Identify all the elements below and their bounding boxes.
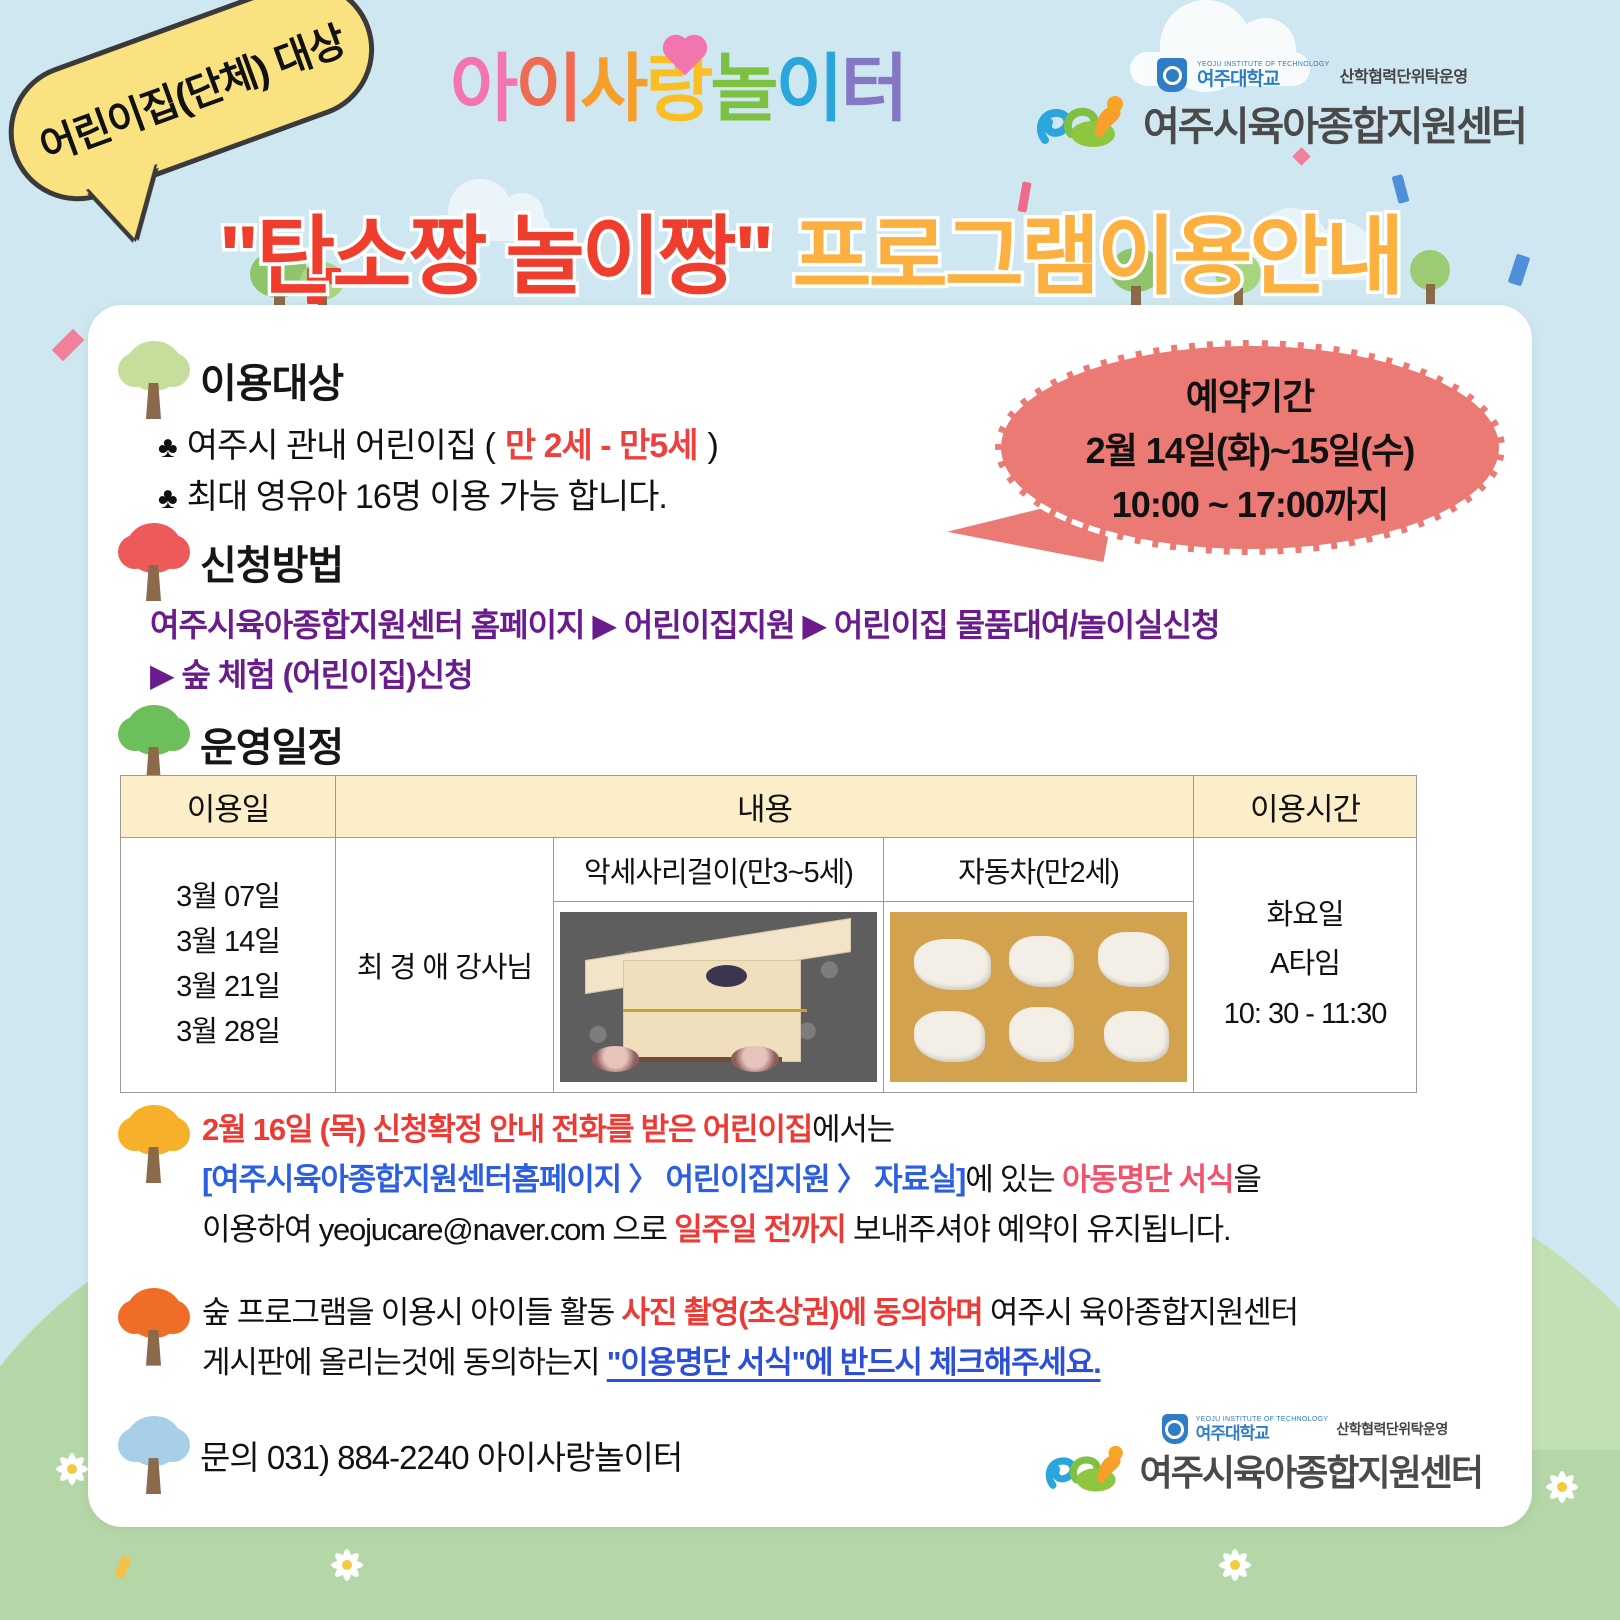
bullet-text-highlight: 만 2세 - 만5세 [505,421,698,472]
notice-span: 게시판에 올리는것에 동의하는지 [202,1345,607,1380]
brand-char: 터 [841,52,906,126]
organization-logo-top: YEOJU INSTITUTE OF TECHNOLOGY 여주대학교 산학협력… [1035,58,1595,152]
cell-activity-b-title: 자동차(만2세) [884,838,1194,902]
photo-clay-animals [890,912,1187,1082]
bullet-text-pre: 여주시 관내 어린이집 ( [187,421,495,472]
tree-icon [122,523,186,601]
notice-span: 사진 촬영(초상권)에 동의하며 [622,1295,983,1330]
brand-char: 사 [580,52,645,126]
notice-span: 2월 16일 (목) 신청확정 안내 전화를 받은 어린이집 [202,1112,812,1147]
schedule-table: 이용일 내용 이용시간 3월 07일 3월 14일 3월 21일 3월 28일 … [120,775,1417,1093]
notice-span: 숲 프로그램을 이용시 아이들 활동 [202,1295,622,1330]
headline-part-1: "탄소짱 놀이짱" [218,209,771,305]
center-mark-row: 여주시육아종합지원센터 [1044,1444,1482,1496]
center-symbol-icon [1035,94,1131,152]
cell-time: 화요일 A타임 10: 30 - 11:30 [1194,838,1417,1093]
poster-root: 어린이집(단체) 대상 아 이 사 랑 놀 이 터 YEOJU INSTITUT… [0,0,1620,1620]
club-bullet-icon: ♣ [158,425,177,470]
notice-span: 을 [1233,1162,1260,1197]
notice-body: 숲 프로그램을 이용시 아이들 활동 사진 촬영(초상권)에 동의하며 여주시 … [202,1288,1298,1388]
bullet-text-pre: 최대 영유아 16명 이용 가능 합니다. [187,472,667,523]
badge-label: 어린이집(단체) 대상 [31,9,353,173]
date-item: 3월 21일 [121,965,335,1010]
time-line: 10: 30 - 11:30 [1194,990,1416,1039]
notice-span: [여주시육아종합지원센터홈페이지 〉 어린이집지원 〉 자료실] [202,1162,965,1197]
footer-row: 문의 031) 884-2240 아이사랑놀이터 YEOJU INSTITUTE… [122,1414,1522,1496]
contact-text: 문의 031) 884-2240 아이사랑놀이터 [200,1431,682,1479]
tree-icon [122,705,186,783]
center-mark-row: 여주시육아종합지원센터 [1035,94,1595,152]
tree-icon [122,1105,186,1183]
notice-span: "이용명단 서식"에 반드시 체크해주세요. [607,1345,1101,1380]
reservation-title: 예약기간 [1186,368,1314,420]
center-symbol-icon [1044,1444,1130,1496]
notice-span: 아동명단 서식 [1062,1162,1233,1197]
notice-item: 숲 프로그램을 이용시 아이들 활동 사진 촬영(초상권)에 동의하며 여주시 … [122,1288,1522,1388]
table-header-row: 이용일 내용 이용시간 [121,776,1417,838]
photo-birdhouse-craft [560,912,877,1082]
cell-activity-a-photo [554,902,884,1093]
daisy-flower-icon [1218,1548,1252,1582]
cell-activity-a-title: 악세사리걸이(만3~5세) [554,838,884,902]
daisy-flower-icon [1545,1470,1579,1504]
cell-dates: 3월 07일 3월 14일 3월 21일 3월 28일 [121,838,336,1093]
section-title: 운영일정 [200,715,343,773]
bullet-item: ♣ 여주시 관내 어린이집 ( 만 2세 - 만5세 ) [158,421,718,472]
bubble-text: 예약기간 2월 14일(화)~15일(수) 10:00 ~ 17:00까지 [995,340,1505,555]
notice-body: 2월 16일 (목) 신청확정 안내 전화를 받은 어린이집에서는 [여주시육아… [202,1105,1261,1256]
table-row: 3월 07일 3월 14일 3월 21일 3월 28일 최 경 애 강사님 악세… [121,838,1417,902]
operation-note: 산학협력단위탁운영 [1340,63,1468,87]
brand-char: 놀 [710,52,775,126]
university-row: YEOJU INSTITUTE OF TECHNOLOGY 여주대학교 산학협력… [1157,58,1595,92]
notice-line: 게시판에 올리는것에 동의하는지 "이용명단 서식"에 반드시 체크해주세요. [202,1338,1298,1388]
date-item: 3월 14일 [121,920,335,965]
organization-logo-footer: YEOJU INSTITUTE OF TECHNOLOGY 여주대학교 산학협력… [1044,1414,1482,1496]
headline-part-2: 프로그램이용안내 [772,209,1402,305]
apply-path-line-2: ▶ 숲 체험 (어린이집)신청 [150,651,1510,701]
page-title: "탄소짱 놀이짱" 프로그램이용안내 [0,186,1620,311]
notice-span: 여주시 육아종합지원센터 [982,1295,1297,1330]
center-name: 여주시육아종합지원센터 [1140,1444,1482,1496]
university-shield-icon [1162,1414,1188,1444]
notice-list: 2월 16일 (목) 신청확정 안내 전화를 받은 어린이집에서는 [여주시육아… [122,1105,1522,1496]
date-item: 3월 07일 [121,875,335,920]
contact-block: 문의 031) 884-2240 아이사랑놀이터 [122,1416,682,1494]
section-apply-method: 신청방법 [122,523,343,601]
time-line: A타임 [1194,940,1416,989]
notice-span: 이용하여 yeojucare@naver.com 으로 [202,1212,674,1247]
tree-icon [122,1416,186,1494]
notice-span: 에서는 [812,1112,894,1147]
notice-line: [여주시육아종합지원센터홈페이지 〉 어린이집지원 〉 자료실]에 있는 아동명… [202,1155,1261,1205]
notice-item: 2월 16일 (목) 신청확정 안내 전화를 받은 어린이집에서는 [여주시육아… [122,1105,1522,1256]
university-kor-name: 여주대학교 [1196,1425,1329,1442]
club-bullet-icon: ♣ [158,476,177,521]
table-header-content: 내용 [336,776,1194,838]
time-line: 화요일 [1194,891,1416,940]
target-bullets: ♣ 여주시 관내 어린이집 ( 만 2세 - 만5세 ) ♣ 최대 영유아 16… [158,421,718,523]
university-eng-name: YEOJU INSTITUTE OF TECHNOLOGY [1197,61,1330,68]
section-title: 신청방법 [200,533,343,591]
schedule-table-wrapper: 이용일 내용 이용시간 3월 07일 3월 14일 3월 21일 3월 28일 … [88,775,1532,1093]
reservation-dates: 2월 14일(화)~15일(수) [1086,422,1415,474]
date-item: 3월 28일 [121,1010,335,1055]
reservation-period-bubble: 예약기간 2월 14일(화)~15일(수) 10:00 ~ 17:00까지 [995,340,1505,555]
notice-line: 2월 16일 (목) 신청확정 안내 전화를 받은 어린이집에서는 [202,1105,1261,1155]
notice-span: 보내주셔야 예약이 유지됩니다. [846,1212,1231,1247]
table-header-time: 이용시간 [1194,776,1417,838]
cell-activity-b-photo [884,902,1194,1093]
section-title: 이용대상 [200,351,343,409]
daisy-flower-icon [55,1452,89,1486]
university-row: YEOJU INSTITUTE OF TECHNOLOGY 여주대학교 산학협력… [1162,1414,1448,1444]
operation-note: 산학협력단위탁운영 [1336,1419,1447,1439]
bullet-item: ♣ 최대 영유아 16명 이용 가능 합니다. [158,472,718,523]
notice-line: 숲 프로그램을 이용시 아이들 활동 사진 촬영(초상권)에 동의하며 여주시 … [202,1288,1298,1338]
university-eng-name: YEOJU INSTITUTE OF TECHNOLOGY [1196,1416,1329,1423]
tree-icon [122,341,186,419]
cell-teacher: 최 경 애 강사님 [336,838,554,1093]
apply-path-line-1: 여주시육아종합지원센터 홈페이지 ▶ 어린이집지원 ▶ 어린이집 물품대여/놀이… [150,601,1510,651]
apply-path-lines: 여주시육아종합지원센터 홈페이지 ▶ 어린이집지원 ▶ 어린이집 물품대여/놀이… [150,601,1510,700]
reservation-hours: 10:00 ~ 17:00까지 [1112,476,1388,528]
table-header-date: 이용일 [121,776,336,838]
confetti-icon [52,329,85,362]
daisy-flower-icon [330,1548,364,1582]
notice-line: 이용하여 yeojucare@naver.com 으로 일주일 전까지 보내주셔… [202,1205,1261,1255]
brand-char: 이 [775,52,840,126]
tree-icon [122,1288,186,1366]
notice-span: 일주일 전까지 [674,1212,845,1247]
brand-logo: 아 이 사 랑 놀 이 터 [450,52,906,126]
section-schedule: 운영일정 [122,705,343,783]
notice-span: 에 있는 [965,1162,1062,1197]
bullet-text-post: ) [707,421,717,472]
center-name: 여주시육아종합지원센터 [1143,94,1526,152]
university-kor-name: 여주대학교 [1197,70,1330,89]
section-target-audience: 이용대상 [122,341,343,419]
university-shield-icon [1157,58,1187,92]
brand-char: 아 [450,52,515,126]
brand-char: 이 [515,52,580,126]
